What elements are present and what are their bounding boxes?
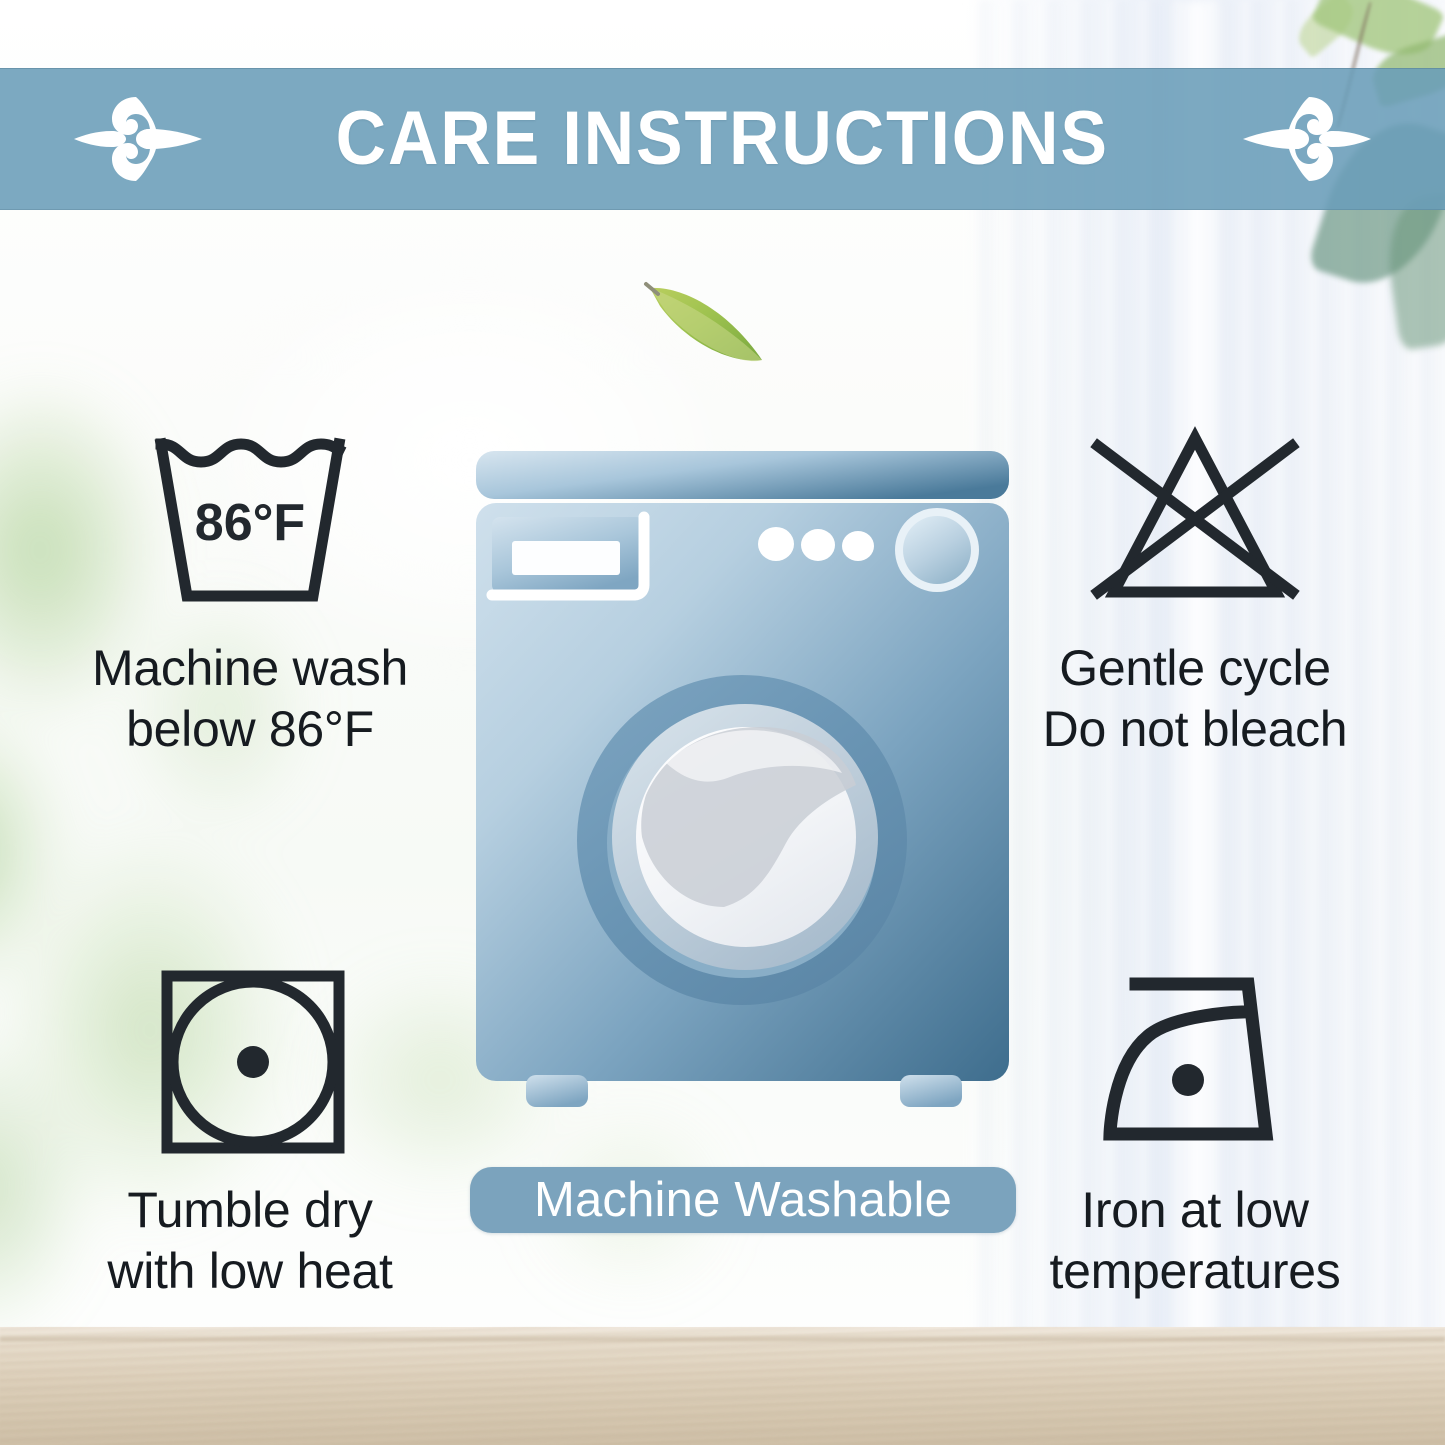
caption-line-1: Iron at low (1050, 1180, 1341, 1241)
machine-foot (900, 1075, 962, 1107)
caption-line-2: Do not bleach (1043, 699, 1348, 760)
indicator-light (801, 529, 835, 561)
detergent-drawer-slot (512, 541, 620, 575)
care-icon-do-not-bleach: Gentle cycle Do not bleach (985, 420, 1405, 760)
tabletop-edge (0, 1335, 1445, 1341)
care-icon-caption: Machine wash below 86°F (92, 638, 408, 760)
badge-label: Machine Washable (534, 1176, 952, 1225)
care-instructions-graphic: CARE INSTRUCTIONS (0, 0, 1445, 1445)
fleur-de-lis-icon (58, 91, 208, 187)
caption-line-1: Machine wash (92, 638, 408, 699)
page-title: CARE INSTRUCTIONS (336, 101, 1109, 177)
caption-line-1: Gentle cycle (1043, 638, 1348, 699)
control-dial (903, 516, 971, 584)
machine-foot (526, 1075, 588, 1107)
indicator-light (842, 531, 874, 561)
machine-washable-badge: Machine Washable (470, 1167, 1016, 1233)
caption-line-2: below 86°F (92, 699, 408, 760)
wash-tub-icon: 86°F (125, 420, 375, 620)
fleur-de-lis-icon (1237, 91, 1387, 187)
tumble-dry-icon (125, 962, 375, 1162)
care-icon-caption: Tumble dry with low heat (107, 1180, 392, 1302)
wash-temperature-label: 86°F (195, 494, 305, 552)
indicator-light (758, 527, 794, 561)
care-icon-tumble-dry: Tumble dry with low heat (40, 962, 460, 1302)
heat-level-dot (237, 1046, 269, 1078)
care-icon-caption: Gentle cycle Do not bleach (1043, 638, 1348, 760)
iron-icon (1070, 962, 1320, 1162)
wood-grain-texture (0, 1327, 1445, 1445)
header-banner: CARE INSTRUCTIONS (0, 68, 1445, 210)
caption-line-2: temperatures (1050, 1241, 1341, 1302)
machine-lid (476, 451, 1009, 499)
heat-level-dot (1172, 1064, 1204, 1096)
crossed-triangle-icon (1070, 420, 1320, 620)
washing-machine-illustration (470, 445, 1015, 1125)
caption-line-2: with low heat (107, 1241, 392, 1302)
care-icon-machine-wash: 86°F Machine wash below 86°F (40, 420, 460, 760)
floating-leaf-icon (636, 272, 800, 384)
caption-line-1: Tumble dry (107, 1180, 392, 1241)
care-icon-iron: Iron at low temperatures (985, 962, 1405, 1302)
care-icon-caption: Iron at low temperatures (1050, 1180, 1341, 1302)
